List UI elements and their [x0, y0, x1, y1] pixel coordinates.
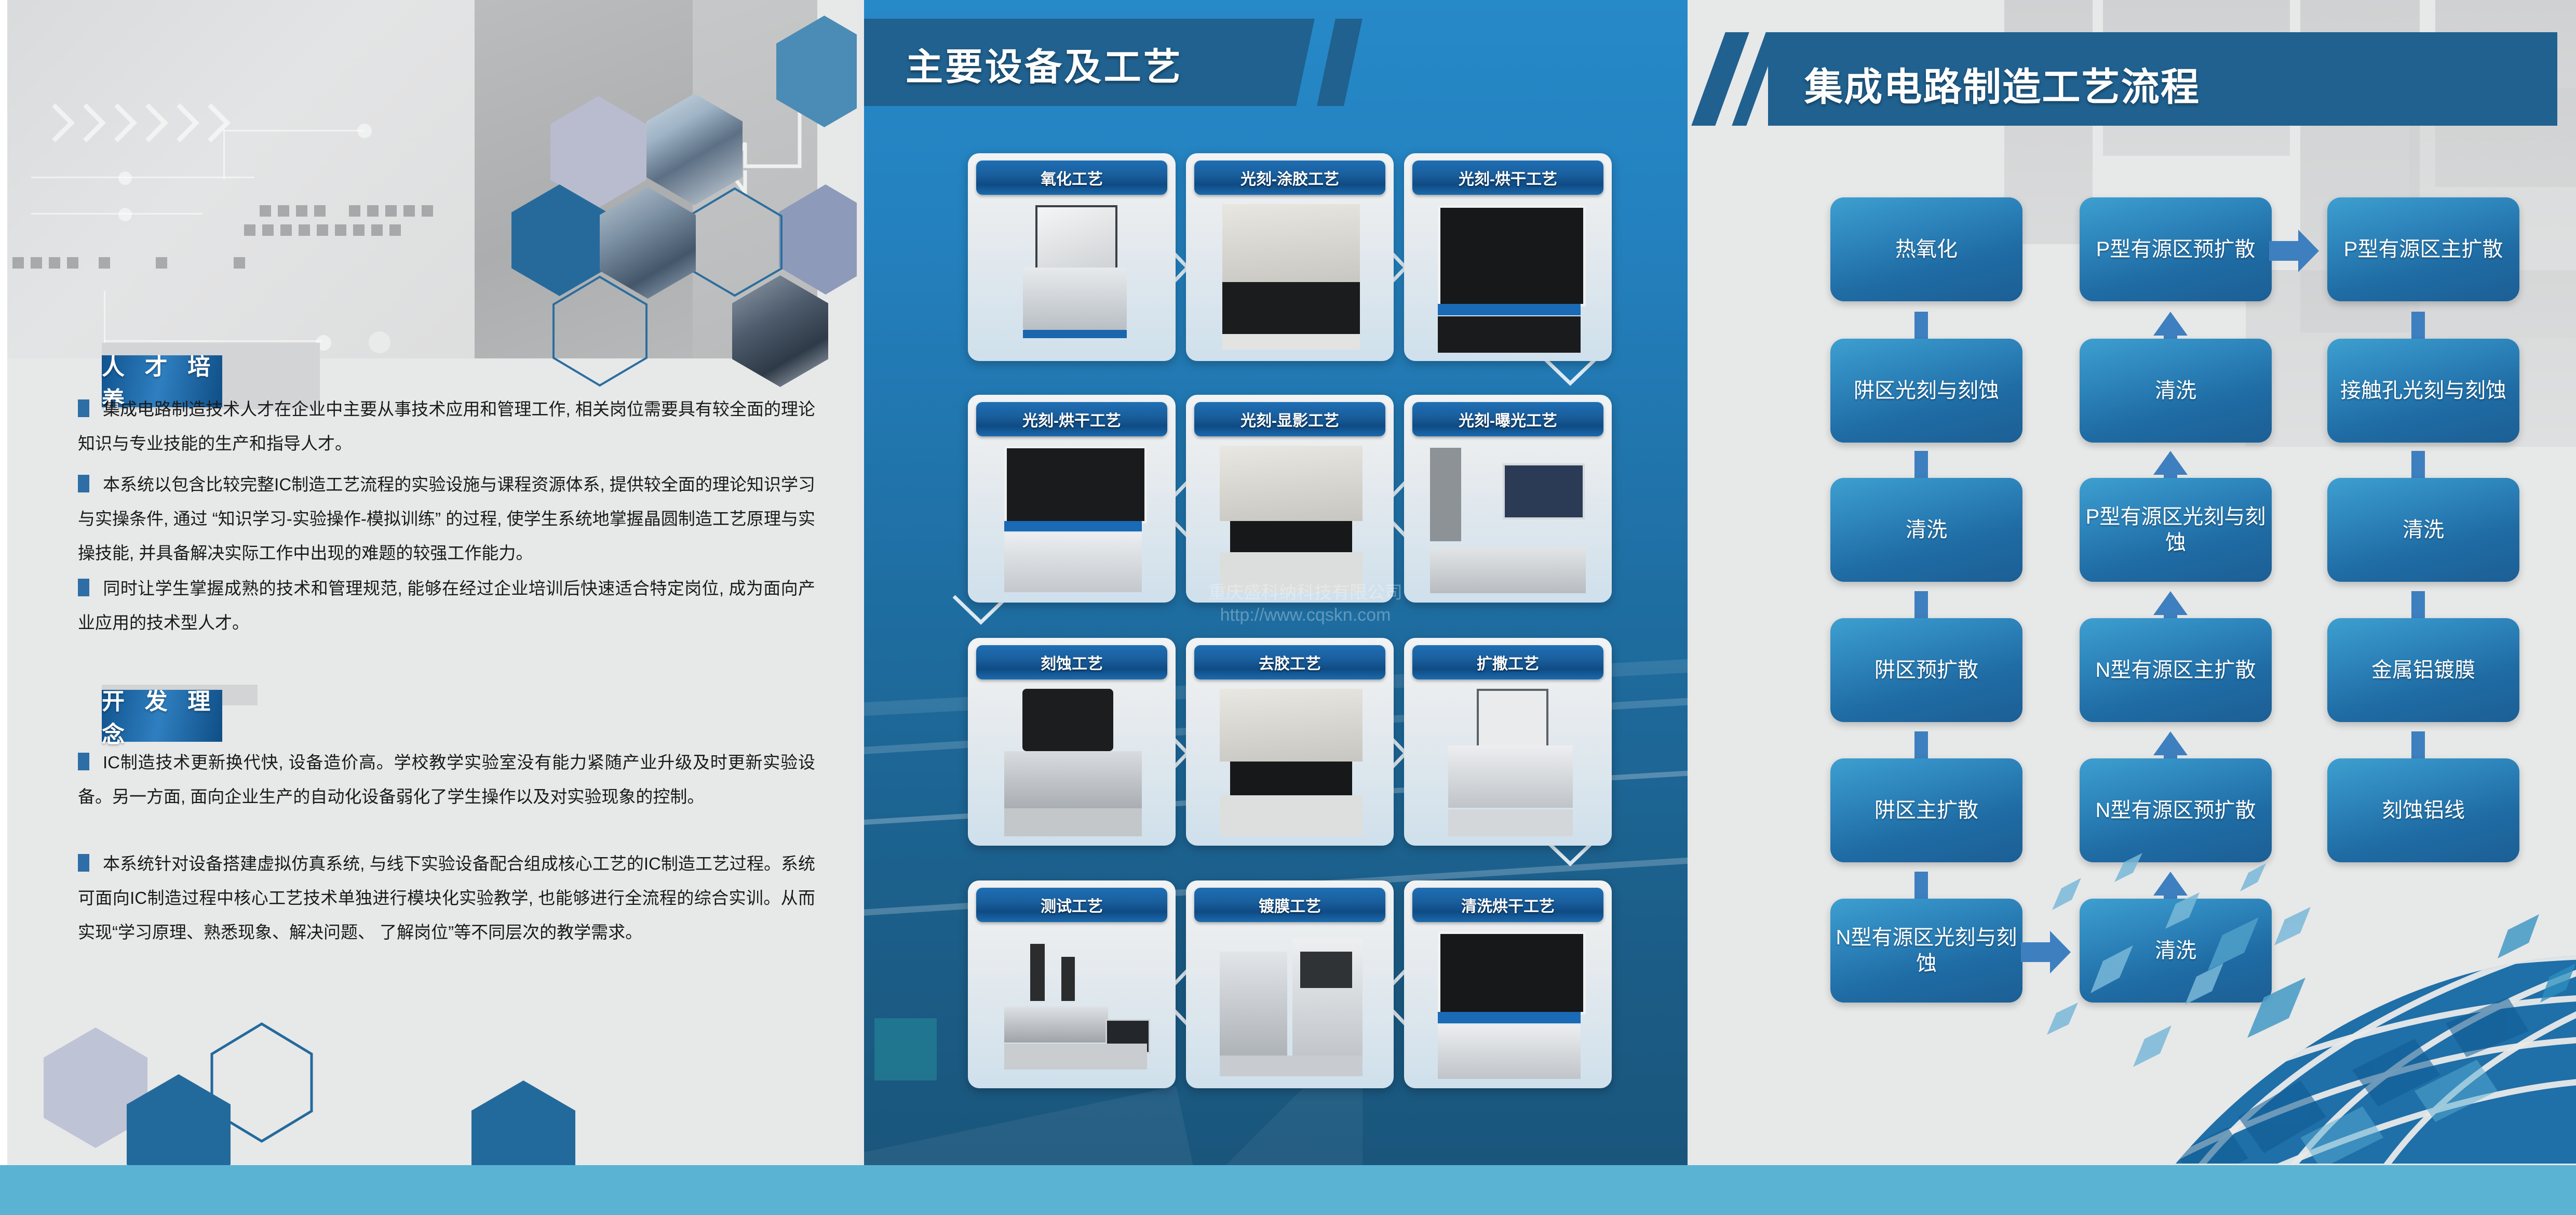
equipment-photo-diffusion-furnace: [1409, 686, 1607, 840]
circuit-pad: [12, 257, 24, 269]
circuit-trace: [31, 213, 203, 215]
hex-outline-decor-2: [687, 187, 783, 297]
equipment-card[interactable]: 光刻-烘干工艺: [968, 395, 1176, 603]
circuit-pad: [244, 224, 255, 236]
watermark: 重庆盛科纳科技有限公司 http://www.cqskn.com: [1144, 582, 1466, 626]
equipment-label: 扩撒工艺: [1412, 645, 1603, 679]
equipment-card[interactable]: 去胶工艺: [1186, 638, 1394, 846]
flow-node[interactable]: 清洗: [2327, 478, 2519, 582]
circuit-pattern-light: [7, 0, 475, 358]
paragraph-talent-2: 本系统以包含比较完整IC制造工艺流程的实验设施与课程资源体系, 提供较全面的理论…: [78, 468, 815, 570]
equipment-card[interactable]: 光刻-烘干工艺: [1404, 153, 1612, 361]
circuit-trace: [104, 340, 322, 342]
paragraph-talent-3: 同时让学生掌握成熟的技术和管理规范, 能够在经过企业培训后快速适合特定岗位, 成…: [78, 571, 815, 640]
circuit-pad: [99, 257, 110, 269]
section-badge-concept: 开 发 理 念: [102, 690, 222, 742]
equipment-label: 光刻-烘干工艺: [976, 402, 1167, 436]
flow-node[interactable]: 阱区光刻与刻蚀: [1830, 339, 2022, 443]
watermark-url: http://www.cqskn.com: [1144, 604, 1466, 626]
flow-node[interactable]: 阱区预扩散: [1830, 618, 2022, 722]
equipment-card[interactable]: 镀膜工艺: [1186, 880, 1394, 1088]
equipment-photo-etcher-console: [973, 686, 1170, 840]
left-panel: 人 才 培 养 集成电路制造技术人才在企业中主要从事技术应用和管理工作, 相关岗…: [0, 0, 857, 1215]
middle-title-slash: [1317, 19, 1363, 106]
flow-node[interactable]: P型有源区主扩散: [2327, 197, 2519, 301]
circuit-pad: [422, 205, 433, 217]
circuit-pad: [49, 257, 60, 269]
circuit-pad: [280, 224, 292, 236]
equipment-label: 清洗烘干工艺: [1412, 888, 1603, 922]
paragraph-concept-2: 本系统针对设备搭建虚拟仿真系统, 与线下实验设备配合组成核心工艺的IC制造工艺过…: [78, 847, 815, 950]
arrow-right-icon: [2269, 228, 2321, 274]
circuit-pad: [317, 224, 328, 236]
paragraph-concept-1: IC制造技术更新换代快, 设备造价高。学校教学实验室没有能力紧随产业升级及时更新…: [78, 745, 815, 814]
circuit-pad: [67, 257, 78, 269]
equipment-card[interactable]: 刻蚀工艺: [968, 638, 1176, 846]
bullet-marker: [78, 579, 89, 596]
equipment-label: 光刻-曝光工艺: [1412, 402, 1603, 436]
equipment-label: 测试工艺: [976, 888, 1167, 922]
circuit-pad: [367, 205, 379, 217]
circuit-pad: [335, 224, 346, 236]
watermark-company: 重庆盛科纳科技有限公司: [1144, 582, 1466, 604]
circuit-pad: [385, 205, 397, 217]
equipment-photo-oxidation-furnace: [973, 201, 1170, 356]
hex-outline-decor: [552, 275, 648, 387]
equipment-label: 氧化工艺: [976, 161, 1167, 195]
equipment-label: 光刻-涂胶工艺: [1194, 161, 1385, 195]
bullet-marker: [78, 475, 89, 492]
bullet-marker: [78, 753, 89, 770]
circuit-trace: [223, 130, 363, 131]
circuit-pad: [262, 224, 274, 236]
circuit-pad: [296, 205, 307, 217]
circuit-node: [118, 208, 132, 221]
globe-wave-decor: [2082, 893, 2576, 1164]
circuit-pad: [349, 205, 360, 217]
circuit-pad: [389, 224, 401, 236]
circuit-node: [369, 331, 390, 353]
flow-node[interactable]: N型有源区光刻与刻蚀: [1830, 899, 2022, 1003]
equipment-photo-bake-oven-dark: [1409, 201, 1607, 356]
equipment-label: 光刻-显影工艺: [1194, 402, 1385, 436]
footer-band: [0, 1165, 2576, 1215]
circuit-trace: [223, 130, 225, 179]
flow-node[interactable]: 清洗: [2080, 339, 2272, 443]
equipment-label: 刻蚀工艺: [976, 645, 1167, 679]
flow-node[interactable]: 热氧化: [1830, 197, 2022, 301]
bullet-marker: [78, 854, 89, 872]
flow-node[interactable]: 金属铝镀膜: [2327, 618, 2519, 722]
equipment-label: 光刻-烘干工艺: [1412, 161, 1603, 195]
hex-bottom-outline: [210, 1022, 314, 1143]
circuit-pad: [278, 205, 289, 217]
flow-node[interactable]: 接触孔光刻与刻蚀: [2327, 339, 2519, 443]
circuit-node: [357, 124, 372, 138]
middle-title: 主要设备及工艺: [906, 36, 1183, 91]
left-white-edge: [0, 0, 7, 1215]
flow-node[interactable]: P型有源区预扩散: [2080, 197, 2272, 301]
flow-node[interactable]: 阱区主扩散: [1830, 758, 2022, 862]
equipment-photo-sputter-coater: [1191, 928, 1388, 1083]
flow-node[interactable]: 清洗: [1830, 478, 2022, 582]
right-panel: 集成电路制造工艺流程 热氧化 阱区光刻与刻蚀 清洗 阱区预扩散 阱区主扩散 N型…: [1688, 0, 2576, 1215]
circuit-pad: [260, 205, 271, 217]
circuit-pad: [31, 257, 42, 269]
equipment-card[interactable]: 测试工艺: [968, 880, 1176, 1088]
equipment-card[interactable]: 光刻-涂胶工艺: [1186, 153, 1394, 361]
equipment-photo-coater-hood: [1191, 201, 1388, 356]
circuit-pad: [353, 224, 365, 236]
circuit-pad: [403, 205, 415, 217]
paragraph-talent-1: 集成电路制造技术人才在企业中主要从事技术应用和管理工作, 相关岗位需要具有较全面…: [78, 392, 815, 461]
circuit-trace: [31, 177, 254, 178]
bullet-marker: [78, 399, 89, 417]
right-title: 集成电路制造工艺流程: [1804, 56, 2200, 112]
equipment-photo-probe-station: [973, 928, 1170, 1083]
equipment-card[interactable]: 氧化工艺: [968, 153, 1176, 361]
equipment-photo-developer-hood: [1191, 443, 1388, 597]
equipment-card[interactable]: 扩撒工艺: [1404, 638, 1612, 846]
circuit-node: [118, 171, 132, 185]
circuit-pad: [371, 224, 383, 236]
circuit-pad: [314, 205, 326, 217]
circuit-pad: [156, 257, 167, 269]
flow-node[interactable]: P型有源区光刻与刻蚀: [2080, 478, 2272, 582]
poster-root: 人 才 培 养 集成电路制造技术人才在企业中主要从事技术应用和管理工作, 相关岗…: [0, 0, 2576, 1215]
equipment-card[interactable]: 清洗烘干工艺: [1404, 880, 1612, 1088]
equipment-label: 去胶工艺: [1194, 645, 1385, 679]
equipment-photo-bake-oven-tall: [973, 443, 1170, 597]
middle-panel: 主要设备及工艺 氧化工艺: [864, 0, 1688, 1215]
circuit-trace: [104, 291, 105, 343]
equipment-photo-aligner-station: [1409, 443, 1607, 597]
flow-node[interactable]: N型有源区主扩散: [2080, 618, 2272, 722]
equipment-label: 镀膜工艺: [1194, 888, 1385, 922]
equipment-card[interactable]: 光刻-曝光工艺: [1404, 395, 1612, 603]
decor-teal-square: [874, 1018, 937, 1080]
equipment-photo-clean-dry-bench: [1409, 928, 1607, 1083]
circuit-pad: [299, 224, 310, 236]
equipment-photo-stripper-hood: [1191, 686, 1388, 840]
circuit-pad: [234, 257, 245, 269]
equipment-card[interactable]: 光刻-显影工艺: [1186, 395, 1394, 603]
